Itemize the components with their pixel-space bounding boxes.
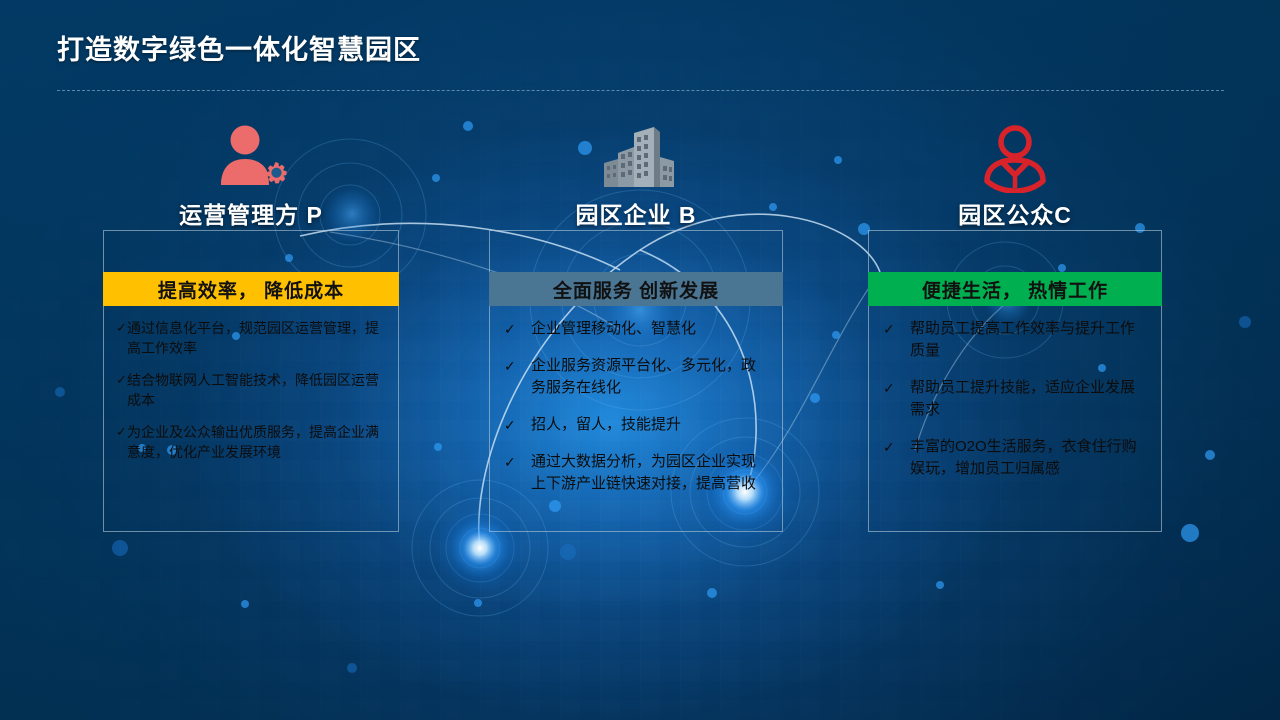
banner-text: 全面服务 创新发展 — [553, 276, 719, 303]
column-public[interactable]: 园区公众C 便捷生活， 热情工作 ✓ 帮助员工提高工作效率与提升工作质量 ✓ 帮… — [868, 122, 1162, 532]
check-icon: ✓ — [501, 414, 531, 436]
person-outline-icon — [868, 122, 1162, 194]
check-icon: ✓ — [116, 370, 127, 390]
buildings-icon — [489, 122, 783, 194]
page-title: 打造数字绿色一体化智慧园区 — [57, 28, 421, 67]
list-item-text: 结合物联网人工智能技术，降低园区运营成本 — [127, 370, 385, 410]
list-item-text: 丰富的O2O生活服务，衣食住行购娱玩，增加员工归属感 — [910, 436, 1146, 480]
list-item: ✓ 招人，留人，技能提升 — [501, 414, 767, 436]
banner-operator: 提高效率， 降低成本 — [103, 272, 399, 306]
list-item-text: 招人，留人，技能提升 — [531, 414, 767, 436]
bullet-list-enterprise: ✓ 企业管理移动化、智慧化 ✓ 企业服务资源平台化、多元化，政务服务在线化 ✓ … — [489, 318, 783, 510]
column-title-public: 园区公众C — [868, 196, 1162, 230]
slide-header: 打造数字绿色一体化智慧园区 — [0, 0, 1280, 96]
banner-text: 提高效率， 降低成本 — [158, 276, 344, 303]
list-item: ✓ 结合物联网人工智能技术，降低园区运营成本 — [116, 370, 385, 410]
check-icon: ✓ — [501, 451, 531, 473]
slide-canvas: 打造数字绿色一体化智慧园区 运营管理方 P 提高效率， 降低成本 — [0, 0, 1280, 720]
list-item: ✓ 企业管理移动化、智慧化 — [501, 318, 767, 340]
column-title-operator: 运营管理方 P — [103, 196, 399, 230]
list-item-text: 帮助员工提升技能，适应企业发展需求 — [910, 377, 1146, 421]
banner-public: 便捷生活， 热情工作 — [868, 272, 1162, 306]
check-icon: ✓ — [880, 377, 910, 399]
banner-text: 便捷生活， 热情工作 — [922, 276, 1108, 303]
check-icon: ✓ — [501, 355, 531, 377]
list-item: ✓ 帮助员工提高工作效率与提升工作质量 — [880, 318, 1146, 362]
list-item-text: 通过大数据分析，为园区企业实现上下游产业链快速对接，提高营收 — [531, 451, 767, 495]
banner-enterprise: 全面服务 创新发展 — [489, 272, 783, 306]
list-item-text: 为企业及公众输出优质服务，提高企业满意度，优化产业发展环境 — [127, 422, 385, 462]
card-title-notch — [161, 228, 343, 232]
list-item-text: 通过信息化平台，规范园区运营管理，提高工作效率 — [127, 318, 385, 358]
column-title-enterprise: 园区企业 B — [489, 196, 783, 230]
check-icon: ✓ — [880, 318, 910, 340]
header-divider — [57, 90, 1224, 91]
check-icon: ✓ — [501, 318, 531, 340]
list-item: ✓ 通过信息化平台，规范园区运营管理，提高工作效率 — [116, 318, 385, 358]
bullet-list-operator: ✓ 通过信息化平台，规范园区运营管理，提高工作效率 ✓ 结合物联网人工智能技术，… — [103, 318, 399, 474]
list-item-text: 企业服务资源平台化、多元化，政务服务在线化 — [531, 355, 767, 399]
list-item: ✓ 通过大数据分析，为园区企业实现上下游产业链快速对接，提高营收 — [501, 451, 767, 495]
check-icon: ✓ — [116, 318, 127, 338]
person-gear-icon — [103, 122, 399, 194]
list-item-text: 企业管理移动化、智慧化 — [531, 318, 767, 340]
column-operator[interactable]: 运营管理方 P 提高效率， 降低成本 ✓ 通过信息化平台，规范园区运营管理，提高… — [103, 122, 399, 532]
check-icon: ✓ — [116, 422, 127, 442]
list-item: ✓ 为企业及公众输出优质服务，提高企业满意度，优化产业发展环境 — [116, 422, 385, 462]
list-item-text: 帮助员工提高工作效率与提升工作质量 — [910, 318, 1146, 362]
bullet-list-public: ✓ 帮助员工提高工作效率与提升工作质量 ✓ 帮助员工提升技能，适应企业发展需求 … — [868, 318, 1162, 495]
list-item: ✓ 帮助员工提升技能，适应企业发展需求 — [880, 377, 1146, 421]
check-icon: ✓ — [880, 436, 910, 458]
list-item: ✓ 丰富的O2O生活服务，衣食住行购娱玩，增加员工归属感 — [880, 436, 1146, 480]
column-enterprise[interactable]: 园区企业 B 全面服务 创新发展 ✓ 企业管理移动化、智慧化 ✓ 企业服务资源平… — [489, 122, 783, 532]
list-item: ✓ 企业服务资源平台化、多元化，政务服务在线化 — [501, 355, 767, 399]
